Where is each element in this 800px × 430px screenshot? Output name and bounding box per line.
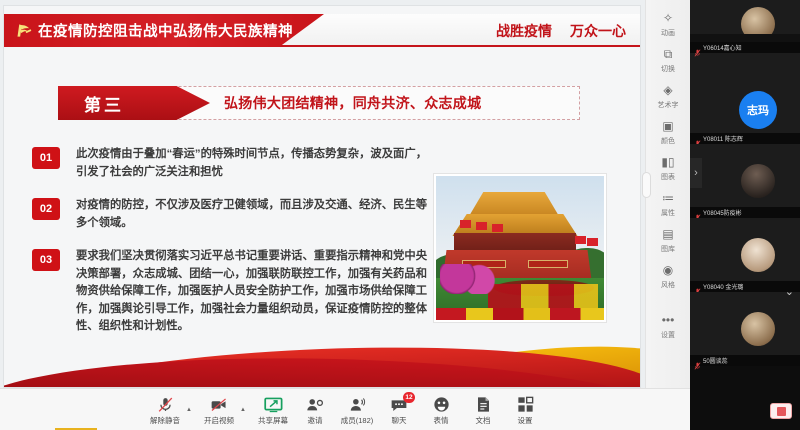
chevron-down-icon[interactable]: ⌄	[785, 285, 794, 298]
list-item: 02 对疫情的防控，不仅涉及医疗卫健领域，而且涉及交通、经济、民生等多个领域。	[32, 197, 427, 232]
participant-tile[interactable]: Y08040 金光璐	[690, 218, 800, 292]
tool-label: 动画	[647, 28, 689, 38]
avatar	[741, 238, 775, 272]
photo-gate-sign-right	[528, 260, 568, 268]
camera-off-icon	[198, 395, 240, 414]
name-bar: 50圆谈蕊	[690, 355, 800, 366]
slide-header-slogans: 战胜疫情 万众一心	[496, 14, 626, 47]
participant-tile-gap	[690, 34, 800, 42]
slogan-2: 万众一心	[570, 21, 626, 41]
end-meeting-button[interactable]	[770, 403, 792, 419]
tool-label: 图表	[647, 172, 689, 182]
mic-muted-icon	[694, 209, 701, 217]
slide-points-list: 01 此次疫情由于叠加“春运”的特殊时间节点，传播态势复杂，波及面广，引发了社会…	[32, 146, 427, 352]
participants-icon	[336, 395, 378, 414]
share-screen-button[interactable]: 共享屏幕	[252, 393, 294, 426]
document-icon	[462, 395, 504, 414]
photo-flag	[492, 224, 503, 232]
audio-options-caret-icon[interactable]: ▲	[186, 407, 198, 426]
photo-flowers-purple	[440, 264, 496, 294]
tool-transition[interactable]: ⧉ 切换	[647, 42, 689, 78]
video-options-caret-icon[interactable]: ▲	[240, 407, 252, 426]
invite-icon	[294, 395, 336, 414]
section-chip: 第三	[58, 86, 210, 120]
end-meeting-icon	[777, 407, 786, 416]
toolbar-label: 开启视频	[198, 415, 240, 426]
gallery-icon: ▤	[647, 227, 689, 242]
name-bar: Y08045防疫彬	[690, 207, 800, 218]
settings-button[interactable]: 设置	[504, 393, 546, 426]
tool-label: 切换	[647, 64, 689, 74]
participants-button[interactable]: 成员(182)	[336, 393, 378, 426]
mic-muted-icon	[694, 357, 701, 365]
tiananmen-photo	[436, 176, 604, 320]
tool-label: 艺术字	[647, 100, 689, 110]
photo-flag	[575, 236, 586, 244]
style-icon: ◉	[647, 263, 689, 278]
avatar: 志玛	[739, 91, 777, 129]
section-chip-label: 第三	[84, 91, 124, 116]
photo-flag	[476, 222, 487, 230]
toolbar-label: 设置	[504, 415, 546, 426]
section-title-text: 弘扬伟大团结精神，同舟共济、众志成城	[224, 93, 481, 113]
name-bar: Y08040 金光璐	[690, 281, 800, 292]
participant-tile[interactable]: 50圆谈蕊 ⌄	[690, 292, 800, 366]
participant-tile[interactable]: Y08045防疫彬	[690, 144, 800, 218]
tile-content	[690, 0, 800, 34]
photo-flowerbed	[488, 284, 598, 310]
documents-button[interactable]: 文档	[462, 393, 504, 426]
toolbar-label: 表情	[420, 415, 462, 426]
tool-animation[interactable]: ✧ 动画	[647, 6, 689, 42]
point-text: 此次疫情由于叠加“春运”的特殊时间节点，传播态势复杂，波及面广，引发了社会的广泛…	[76, 146, 427, 181]
point-number: 01	[32, 147, 60, 169]
settings-icon: •••	[647, 313, 689, 328]
meeting-toolbar: 解除静音 ▲ 开启视频 ▲ 共享屏幕 邀请	[0, 388, 690, 430]
avatar	[741, 312, 775, 346]
color-icon: ▣	[647, 119, 689, 134]
shared-screen-pane: 在疫情防控阻击战中弘扬伟大民族精神 战胜疫情 万众一心 第三 弘扬伟大团结精神，…	[0, 0, 645, 430]
mic-muted-icon	[144, 395, 186, 414]
tool-wordart[interactable]: ◈ 艺术字	[647, 78, 689, 114]
slide-tool-rail: ✧ 动画 ⧉ 切换 ◈ 艺术字 ▣ 颜色 ▮▯ 图表 ≔ 属性 ▤ 图库 ◉ 风	[645, 0, 690, 430]
collapse-handle-icon[interactable]	[642, 172, 651, 198]
toolbar-label: 共享屏幕	[252, 415, 294, 426]
chevron-left-icon[interactable]: ›	[690, 158, 702, 188]
slide-header: 在疫情防控阻击战中弘扬伟大民族精神 战胜疫情 万众一心	[4, 14, 640, 47]
start-video-button[interactable]: 开启视频	[198, 393, 240, 426]
tool-label: 属性	[647, 208, 689, 218]
toolbar-label: 文档	[462, 415, 504, 426]
chart-icon: ▮▯	[647, 155, 689, 170]
point-text: 要求我们坚决贯彻落实习近平总书记重要讲话、重要指示精神和党中央决策部署，众志成城…	[76, 248, 427, 336]
transition-icon: ⧉	[647, 47, 689, 62]
toolbar-label: 成员(182)	[336, 415, 378, 426]
emoji-icon	[420, 395, 462, 414]
point-number: 02	[32, 198, 60, 220]
tool-properties[interactable]: ≔ 属性	[647, 186, 689, 222]
participant-name: Y08045防疫彬	[703, 208, 742, 217]
tool-label: 设置	[647, 330, 689, 340]
point-number: 03	[32, 249, 60, 271]
invite-button[interactable]: 邀请	[294, 393, 336, 426]
unmute-button[interactable]: 解除静音	[144, 393, 186, 426]
participant-name-row: Y06014嘉心知	[690, 42, 800, 76]
toolbar-label: 邀请	[294, 415, 336, 426]
section-title-bar: 第三 弘扬伟大团结精神，同舟共济、众志成城	[64, 86, 580, 120]
tool-style[interactable]: ◉ 风格	[647, 258, 689, 294]
tool-chart[interactable]: ▮▯ 图表	[647, 150, 689, 186]
presentation-slide[interactable]: 在疫情防控阻击战中弘扬伟大民族精神 战胜疫情 万众一心 第三 弘扬伟大团结精神，…	[4, 6, 640, 387]
slogan-1: 战胜疫情	[496, 21, 552, 41]
participant-tile[interactable]: 志玛 Y08011 陈志辉	[690, 76, 800, 144]
tile-content	[690, 42, 800, 76]
tool-gallery[interactable]: ▤ 图库	[647, 222, 689, 258]
slide-title: 在疫情防控阻击战中弘扬伟大民族精神	[38, 20, 293, 41]
participant-name: Y08011 陈志辉	[703, 134, 743, 143]
tool-color[interactable]: ▣ 颜色	[647, 114, 689, 150]
photo-flag	[460, 220, 471, 228]
slide-bottom-ribbon	[4, 337, 640, 387]
list-item: 01 此次疫情由于叠加“春运”的特殊时间节点，传播态势复杂，波及面广，引发了社会…	[32, 146, 427, 181]
share-screen-icon	[252, 395, 294, 414]
list-item: 03 要求我们坚决贯彻落实习近平总书记重要讲话、重要指示精神和党中央决策部署，众…	[32, 248, 427, 336]
chat-button[interactable]: 12 聊天	[378, 393, 420, 426]
tool-label: 颜色	[647, 136, 689, 146]
tool-settings[interactable]: ••• 设置	[647, 308, 689, 344]
participant-name: Y08040 金光璐	[703, 282, 743, 291]
point-text: 对疫情的防控，不仅涉及医疗卫健领域，而且涉及交通、经济、民生等多个领域。	[76, 197, 427, 232]
party-emblem-icon	[14, 20, 35, 41]
tool-label: 风格	[647, 280, 689, 290]
participant-name: 50圆谈蕊	[703, 356, 728, 365]
toolbar-items: 解除静音 ▲ 开启视频 ▲ 共享屏幕 邀请	[144, 393, 546, 426]
animation-icon: ✧	[647, 11, 689, 26]
apps-settings-icon	[504, 395, 546, 414]
mic-muted-icon	[694, 283, 701, 291]
toolbar-label: 聊天	[378, 415, 420, 426]
slide-photo-frame	[434, 174, 606, 322]
photo-flag	[587, 238, 598, 246]
name-bar: Y08011 陈志辉	[690, 133, 800, 144]
photo-flowerbed-front	[436, 308, 604, 320]
mic-muted-icon	[694, 135, 701, 143]
meeting-window: 在疫情防控阻击战中弘扬伟大民族精神 战胜疫情 万众一心 第三 弘扬伟大团结精神，…	[0, 0, 800, 430]
tool-label: 图库	[647, 244, 689, 254]
chat-unread-badge: 12	[403, 392, 415, 403]
slide-header-red-banner: 在疫情防控阻击战中弘扬伟大民族精神	[4, 14, 324, 47]
toolbar-label: 解除静音	[144, 415, 186, 426]
properties-icon: ≔	[647, 191, 689, 206]
participant-video-strip: Y06014嘉心知 志玛 Y08011 陈志辉	[690, 0, 800, 430]
reactions-button[interactable]: 表情	[420, 393, 462, 426]
wordart-icon: ◈	[647, 83, 689, 98]
avatar	[741, 164, 775, 198]
participant-tile[interactable]	[690, 0, 800, 34]
